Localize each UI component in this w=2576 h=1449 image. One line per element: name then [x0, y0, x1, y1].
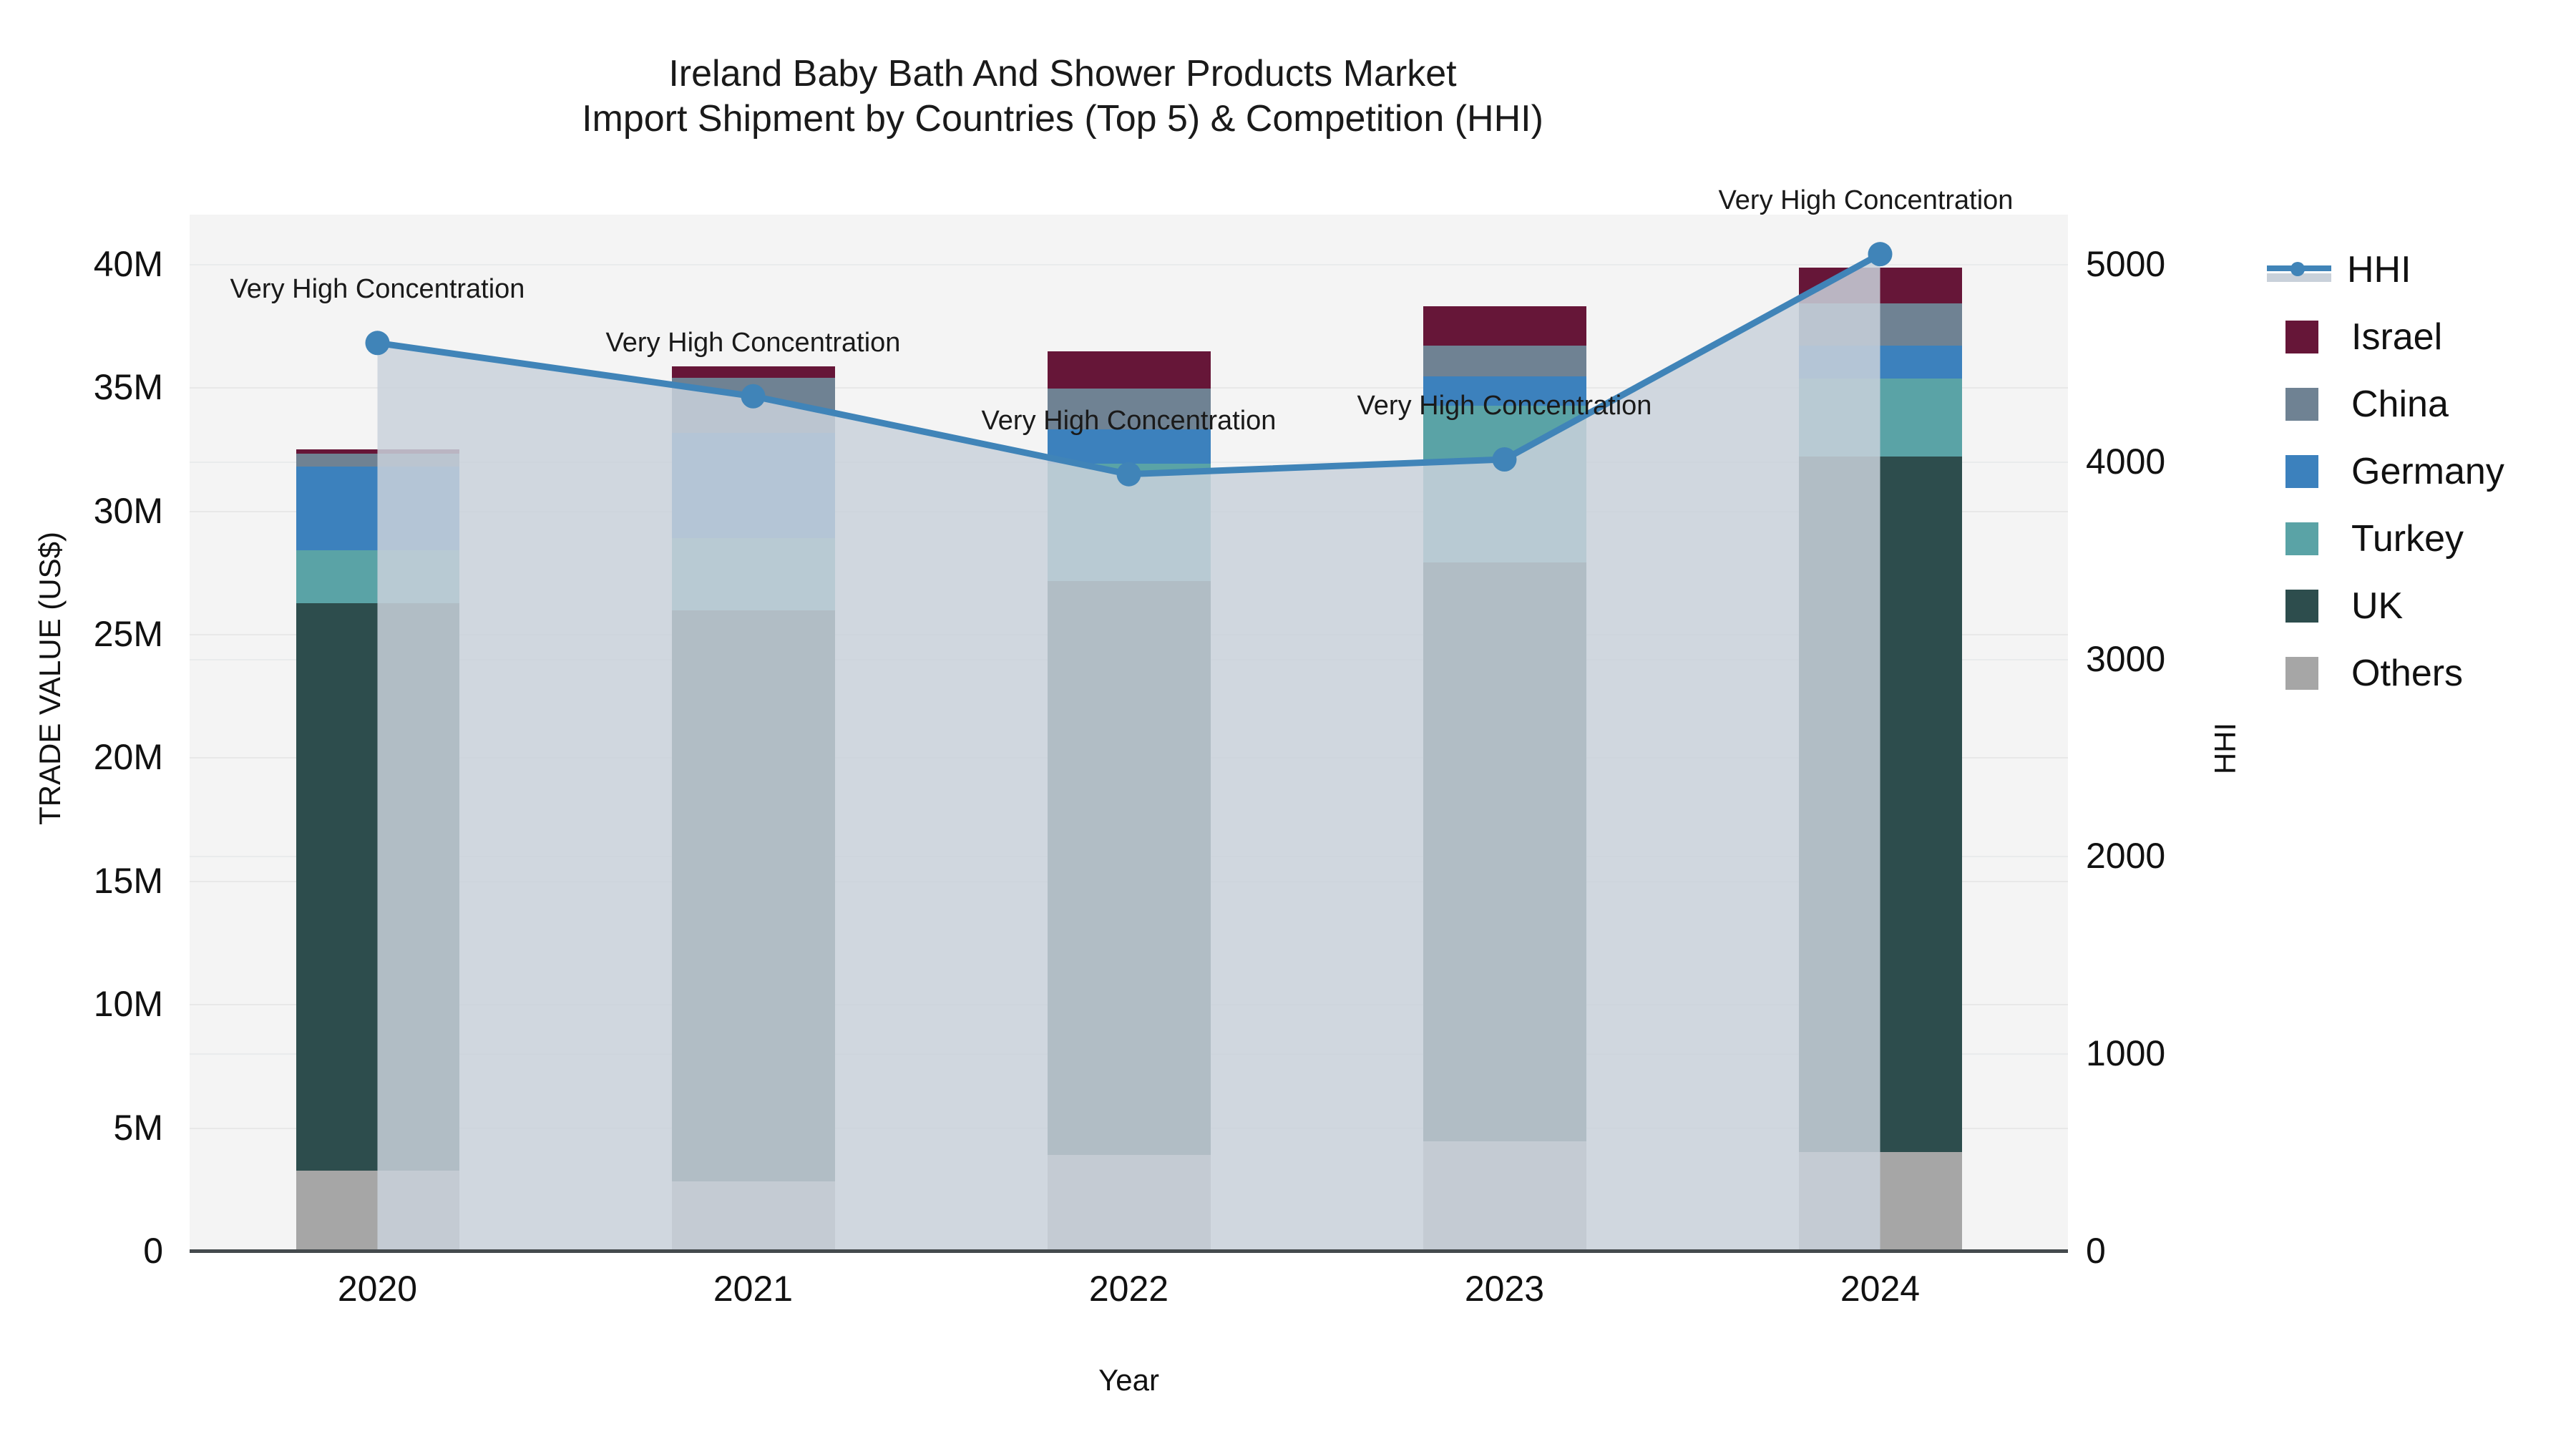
y-tick-label-left: 35M — [0, 366, 179, 408]
bar-group-2024[interactable] — [1799, 215, 1962, 1251]
bar-segment-israel[interactable] — [1048, 351, 1211, 389]
legend-label: Others — [2351, 655, 2463, 692]
bar-segment-israel[interactable] — [672, 366, 835, 378]
legend-label: HHI — [2347, 251, 2411, 288]
bar-segment-turkey[interactable] — [1423, 406, 1586, 562]
y-tick-label-left: 0 — [0, 1230, 179, 1272]
legend-label: China — [2351, 386, 2449, 423]
bar-segment-israel[interactable] — [296, 449, 459, 454]
y-tick-label-left: 10M — [0, 983, 179, 1025]
legend-swatch-icon — [2285, 522, 2318, 555]
y-tick-label-left: 20M — [0, 736, 179, 778]
bar-segment-turkey[interactable] — [1799, 379, 1962, 457]
bar-segment-uk[interactable] — [672, 610, 835, 1181]
legend-item-hhi[interactable]: HHI — [2254, 236, 2569, 303]
annotation-concentration-2023: Very High Concentration — [1357, 391, 1652, 421]
bar-segment-china[interactable] — [296, 454, 459, 466]
annotation-concentration-2020: Very High Concentration — [230, 274, 525, 305]
chart-figure: Ireland Baby Bath And Shower Products Ma… — [0, 0, 2576, 1449]
bar-segment-china[interactable] — [672, 378, 835, 434]
x-tick-label-2024: 2024 — [1737, 1268, 2024, 1309]
bar-segment-germany[interactable] — [296, 467, 459, 550]
legend-item-germany[interactable]: Germany — [2254, 438, 2569, 505]
x-tick-label-2023: 2023 — [1362, 1268, 1648, 1309]
annotation-concentration-2024: Very High Concentration — [1719, 185, 2014, 216]
legend-item-others[interactable]: Others — [2254, 640, 2569, 707]
bar-segment-china[interactable] — [1423, 346, 1586, 376]
x-tick-label-2022: 2022 — [986, 1268, 1272, 1309]
legend-swatch-icon — [2285, 388, 2318, 421]
bar-segment-uk[interactable] — [296, 603, 459, 1171]
bar-segment-israel[interactable] — [1799, 268, 1962, 303]
bar-segment-uk[interactable] — [1799, 457, 1962, 1152]
y-tick-label-right: 0 — [2086, 1230, 2265, 1272]
bar-segment-germany[interactable] — [672, 433, 835, 538]
legend-label: Turkey — [2351, 520, 2464, 557]
legend-label: UK — [2351, 587, 2403, 625]
annotation-concentration-2022: Very High Concentration — [982, 406, 1277, 436]
x-axis-label: Year — [190, 1363, 2068, 1397]
x-tick-label-2021: 2021 — [610, 1268, 897, 1309]
bar-group-2023[interactable] — [1423, 215, 1586, 1251]
x-tick-label-2020: 2020 — [235, 1268, 521, 1309]
bar-segment-turkey[interactable] — [296, 550, 459, 603]
bar-segment-others[interactable] — [1048, 1155, 1211, 1251]
bar-segment-china[interactable] — [1799, 303, 1962, 346]
plot-area: Very High ConcentrationVery High Concent… — [190, 215, 2068, 1251]
y-tick-label-left: 5M — [0, 1107, 179, 1148]
legend-swatch-icon — [2285, 657, 2318, 690]
legend-item-china[interactable]: China — [2254, 371, 2569, 438]
bar-segment-others[interactable] — [1799, 1152, 1962, 1251]
bar-segment-others[interactable] — [672, 1181, 835, 1251]
legend-label: Israel — [2351, 318, 2442, 356]
y-tick-label-left: 30M — [0, 490, 179, 532]
y-tick-label-right: 5000 — [2086, 243, 2265, 285]
chart-legend: HHIIsraelChinaGermanyTurkeyUKOthers — [2254, 236, 2569, 707]
y-tick-label-left: 40M — [0, 243, 179, 285]
bar-segment-uk[interactable] — [1423, 562, 1586, 1141]
x-axis-line — [190, 1249, 2068, 1253]
y-tick-label-right: 3000 — [2086, 638, 2265, 680]
y-tick-label-right: 4000 — [2086, 441, 2265, 482]
bar-segment-turkey[interactable] — [1048, 464, 1211, 581]
bar-segment-turkey[interactable] — [672, 538, 835, 611]
legend-line-key-icon — [2267, 253, 2331, 286]
legend-swatch-icon — [2285, 590, 2318, 623]
y-tick-label-left: 15M — [0, 860, 179, 902]
y-tick-label-right: 1000 — [2086, 1033, 2265, 1074]
chart-title: Ireland Baby Bath And Shower Products Ma… — [0, 52, 2125, 142]
annotation-concentration-2021: Very High Concentration — [606, 328, 901, 358]
legend-label: Germany — [2351, 453, 2504, 490]
bar-segment-uk[interactable] — [1048, 581, 1211, 1155]
y-tick-label-left: 25M — [0, 613, 179, 655]
bar-segment-others[interactable] — [296, 1171, 459, 1251]
bar-group-2022[interactable] — [1048, 215, 1211, 1251]
bar-segment-germany[interactable] — [1799, 346, 1962, 379]
bar-segment-others[interactable] — [1423, 1141, 1586, 1251]
legend-item-uk[interactable]: UK — [2254, 572, 2569, 640]
legend-swatch-icon — [2285, 455, 2318, 488]
legend-item-turkey[interactable]: Turkey — [2254, 505, 2569, 572]
bar-group-2020[interactable] — [296, 215, 459, 1251]
bar-segment-israel[interactable] — [1423, 306, 1586, 346]
legend-item-israel[interactable]: Israel — [2254, 303, 2569, 371]
bar-group-2021[interactable] — [672, 215, 835, 1251]
legend-swatch-icon — [2285, 321, 2318, 353]
y-tick-label-right: 2000 — [2086, 835, 2265, 877]
